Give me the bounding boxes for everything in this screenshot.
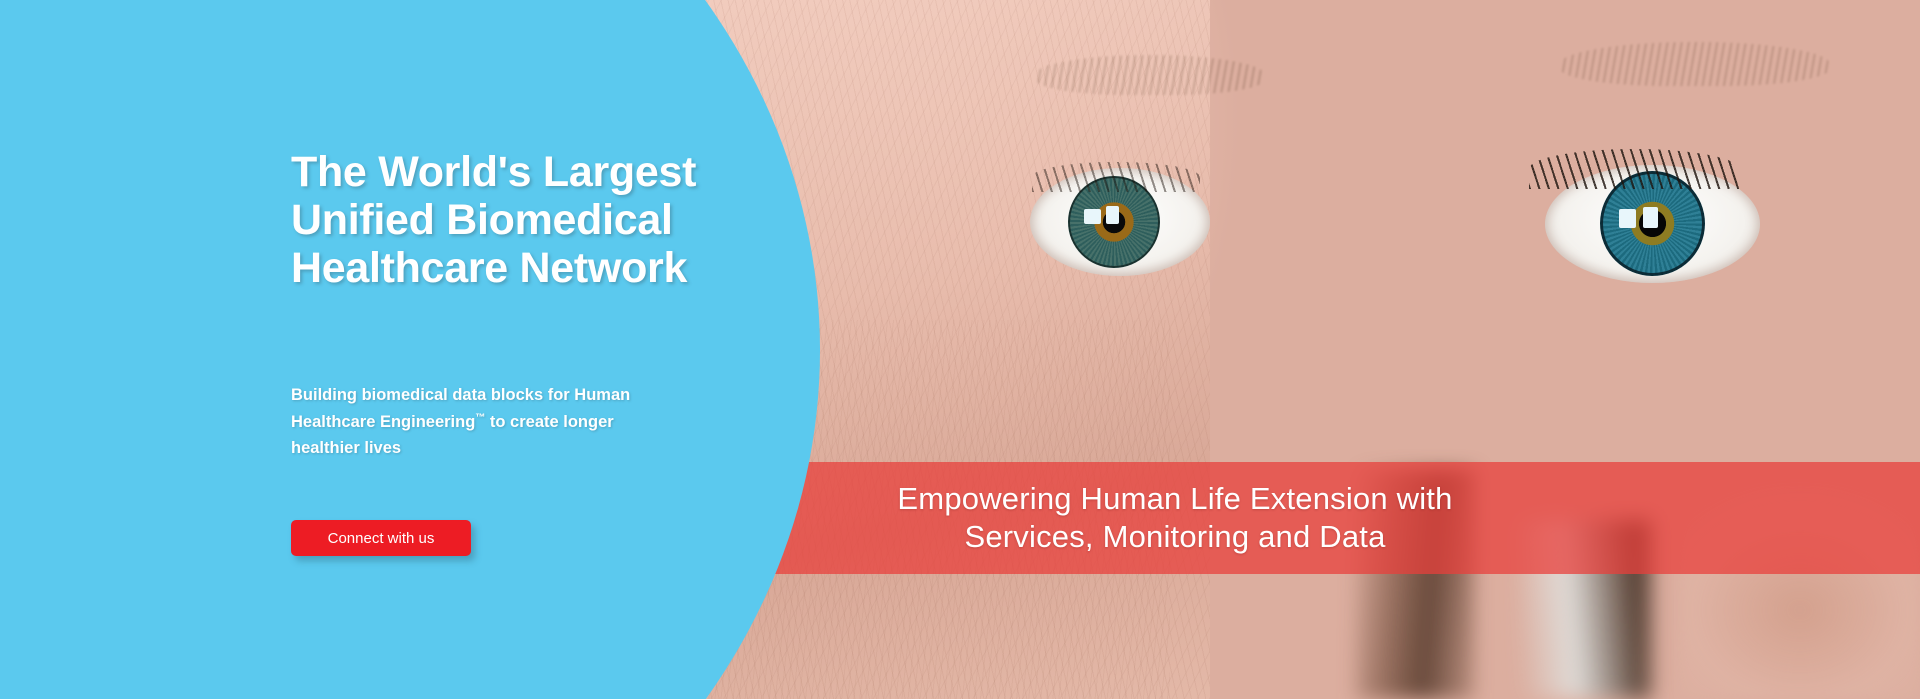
hero-subtitle: Building biomedical data blocks for Huma… [291,382,671,462]
hair-shadow-right [1520,520,1650,699]
young-brow [1560,42,1830,86]
young-lashes [1529,149,1739,189]
hero-banner: Empowering Human Life Extension with Ser… [0,0,1920,699]
young-eye [1545,165,1760,283]
connect-with-us-button[interactable]: Connect with us [291,520,471,556]
page-title: The World's Largest Unified Biomedical H… [291,148,851,292]
hair-shadow-left [1355,470,1475,699]
trademark-symbol: ™ [475,412,485,423]
young-catchlight-b [1643,207,1658,228]
nose-shadow [1680,470,1920,699]
hero-content: The World's Largest Unified Biomedical H… [291,0,851,699]
young-catchlight-a [1619,209,1636,228]
